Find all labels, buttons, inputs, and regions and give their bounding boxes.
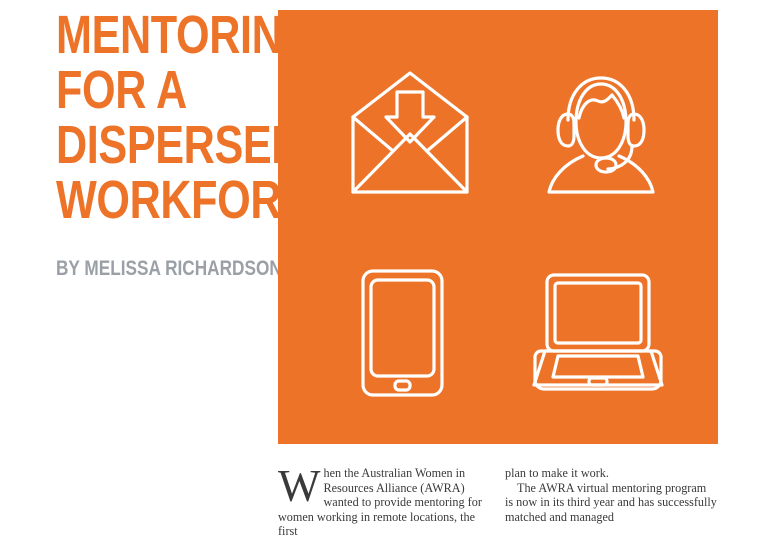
body-columns: When the Australian Women in Resources A… — [278, 466, 726, 537]
headline-line-3: DISPERSED — [56, 118, 224, 173]
laptop-icon — [533, 272, 663, 394]
body-paragraph-right: The AWRA virtual mentoring program is no… — [505, 481, 717, 525]
title-block: MENTORING FOR A DISPERSED WORKFORCE BY M… — [56, 8, 266, 228]
body-column-right: plan to make it work. The AWRA virtual m… — [505, 466, 717, 524]
page-title: MENTORING FOR A DISPERSED WORKFORCE — [56, 8, 224, 228]
body-paragraph-left: When the Australian Women in Resources A… — [278, 466, 490, 537]
body-continuation-right: plan to make it work. — [505, 466, 717, 481]
headline-line-4: WORKFORCE — [56, 173, 224, 228]
headset-person-icon — [546, 70, 656, 195]
headline-line-1: MENTORING — [56, 8, 224, 63]
tablet-icon — [360, 268, 445, 398]
drop-cap: W — [278, 468, 320, 504]
envelope-download-icon — [350, 70, 470, 195]
article-page: MENTORING FOR A DISPERSED WORKFORCE BY M… — [0, 0, 768, 537]
byline: BY MELISSA RICHARDSON — [56, 258, 282, 280]
body-column-left: When the Australian Women in Resources A… — [278, 466, 490, 537]
graphic-panel — [278, 10, 718, 444]
icon-grid — [278, 10, 718, 444]
headline-line-2: FOR A — [56, 63, 224, 118]
